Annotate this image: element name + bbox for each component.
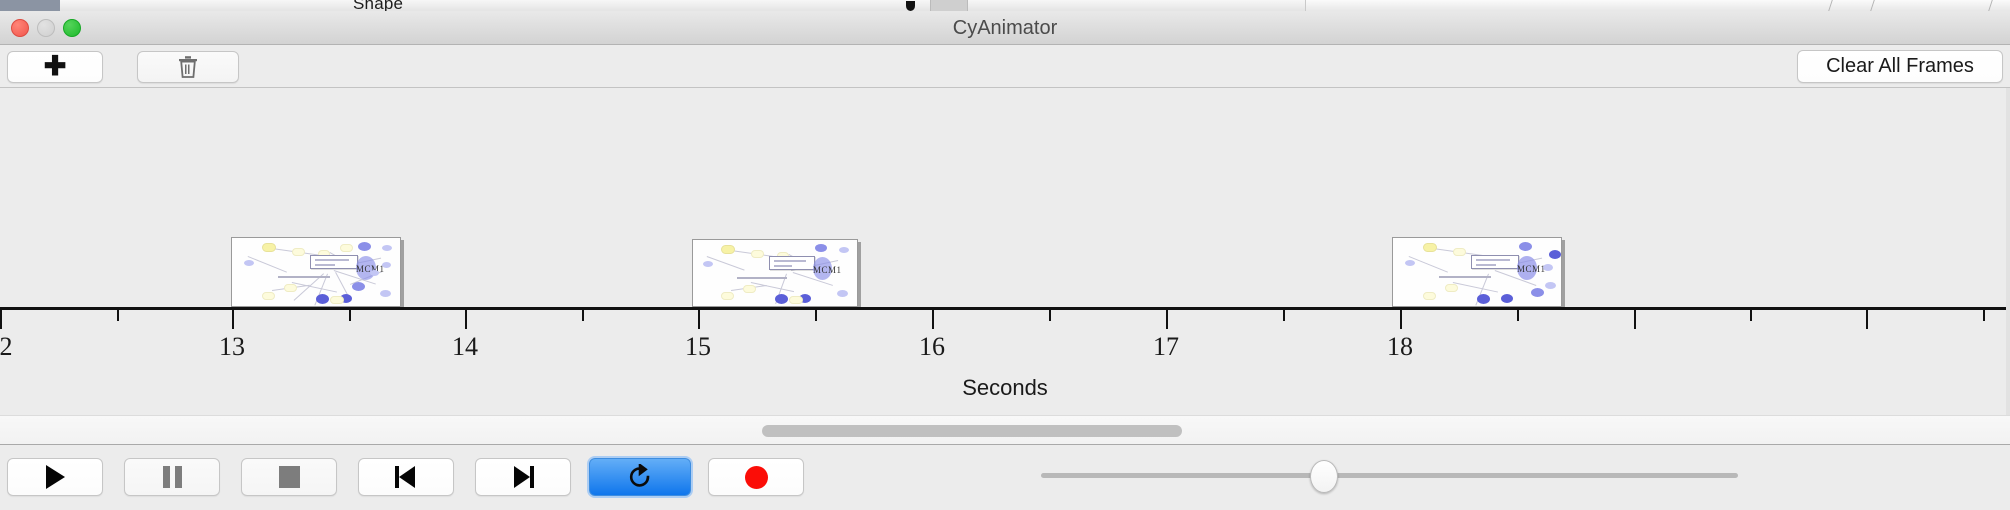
- previous-frame-button[interactable]: [358, 458, 454, 496]
- axis-tick-minor: [582, 310, 584, 321]
- loop-icon: [627, 464, 653, 490]
- axis-tick-label: 15: [685, 332, 711, 362]
- network-preview: MCM1: [1393, 238, 1561, 306]
- axis-tick-minor: [1283, 310, 1285, 321]
- axis-tick-label: 2: [0, 332, 13, 362]
- axis-tick-label: 18: [1387, 332, 1413, 362]
- axis-tick-major: [698, 310, 700, 329]
- axis-tick-minor: [349, 310, 351, 321]
- plus-icon: ✚: [44, 53, 67, 80]
- bg-segment: [240, 0, 306, 11]
- traffic-lights: [11, 19, 81, 37]
- bg-segment: [305, 0, 1306, 11]
- axis-tick-label: 13: [219, 332, 245, 362]
- axis-tick-label: 16: [919, 332, 945, 362]
- network-preview: MCM1: [693, 240, 857, 306]
- skip-back-icon: [395, 466, 417, 488]
- loop-button[interactable]: [589, 458, 691, 496]
- playback-controls: Animation Speed:: [0, 446, 2010, 510]
- bg-divider: [1828, 0, 1833, 11]
- pause-button[interactable]: [124, 458, 220, 496]
- timeline-scrollbar-thumb[interactable]: [762, 425, 1182, 437]
- slider-knob[interactable]: [1310, 460, 1338, 493]
- bg-divider: [1988, 0, 1993, 11]
- bg-divider: [1870, 0, 1875, 11]
- frame-thumbnail[interactable]: MCM1: [1392, 237, 1562, 307]
- axis-tick-major: [0, 310, 2, 329]
- pause-icon: [163, 466, 182, 488]
- record-icon: [745, 466, 768, 489]
- bg-selected-cell: [930, 0, 968, 11]
- timeline-panel[interactable]: MCM1: [0, 88, 2010, 415]
- slider-track[interactable]: [1041, 473, 1738, 478]
- add-frame-button[interactable]: ✚: [7, 51, 103, 83]
- axis-tick-major: [465, 310, 467, 329]
- play-icon: [46, 465, 65, 489]
- axis-tick-minor: [1517, 310, 1519, 321]
- axis-tick-major: [232, 310, 234, 329]
- axis-tick-major: [1166, 310, 1168, 329]
- trash-icon: [177, 55, 199, 79]
- axis-tick-minor: [1750, 310, 1752, 321]
- record-button[interactable]: [708, 458, 804, 496]
- stop-button[interactable]: [241, 458, 337, 496]
- axis-tick-major: [932, 310, 934, 329]
- frame-thumbnail[interactable]: MCM1: [231, 237, 401, 307]
- axis-tick-label: 17: [1153, 332, 1179, 362]
- clear-all-frames-button[interactable]: Clear All Frames: [1797, 50, 2003, 83]
- network-preview: MCM1: [232, 238, 400, 306]
- axis-tick-minor: [1983, 310, 1985, 321]
- next-frame-button[interactable]: [475, 458, 571, 496]
- delete-frame-button[interactable]: [137, 51, 239, 83]
- skip-forward-icon: [512, 466, 534, 488]
- frame-track[interactable]: MCM1: [0, 88, 2010, 307]
- window-title: CyAnimator: [0, 11, 2010, 45]
- axis-tick-major: [1634, 310, 1636, 329]
- timeline-right-edge: [2006, 88, 2010, 415]
- bg-segment: [60, 0, 146, 11]
- minimize-button[interactable]: [37, 19, 55, 37]
- play-button[interactable]: [7, 458, 103, 496]
- bg-segment: [185, 0, 241, 11]
- title-bar[interactable]: CyAnimator: [0, 11, 2010, 45]
- frame-toolbar: ✚ Clear All Frames: [0, 45, 2010, 88]
- cyanimator-window: Shape CyAnimator ✚ Clear: [0, 0, 2010, 510]
- axis-tick-minor: [1049, 310, 1051, 321]
- bg-cursor-marker: [906, 1, 915, 11]
- timeline-scrollbar[interactable]: [0, 415, 2010, 445]
- bg-segment: [145, 0, 186, 11]
- axis-tick-major: [1400, 310, 1402, 329]
- bg-segment: [0, 0, 61, 11]
- clear-all-frames-label: Clear All Frames: [1826, 55, 1974, 78]
- axis-tick-minor: [815, 310, 817, 321]
- axis-tick-minor: [117, 310, 119, 321]
- stop-icon: [279, 466, 300, 488]
- animation-speed-slider[interactable]: [1041, 473, 1738, 478]
- axis-line: [0, 307, 2010, 310]
- time-axis: 2 13 14 15 16 17 18 Seconds: [0, 307, 2010, 415]
- maximize-button[interactable]: [63, 19, 81, 37]
- axis-tick-major: [1866, 310, 1868, 329]
- close-button[interactable]: [11, 19, 29, 37]
- axis-tick-label: 14: [452, 332, 478, 362]
- frame-thumbnail[interactable]: MCM1: [692, 239, 858, 307]
- axis-title: Seconds: [0, 375, 2010, 401]
